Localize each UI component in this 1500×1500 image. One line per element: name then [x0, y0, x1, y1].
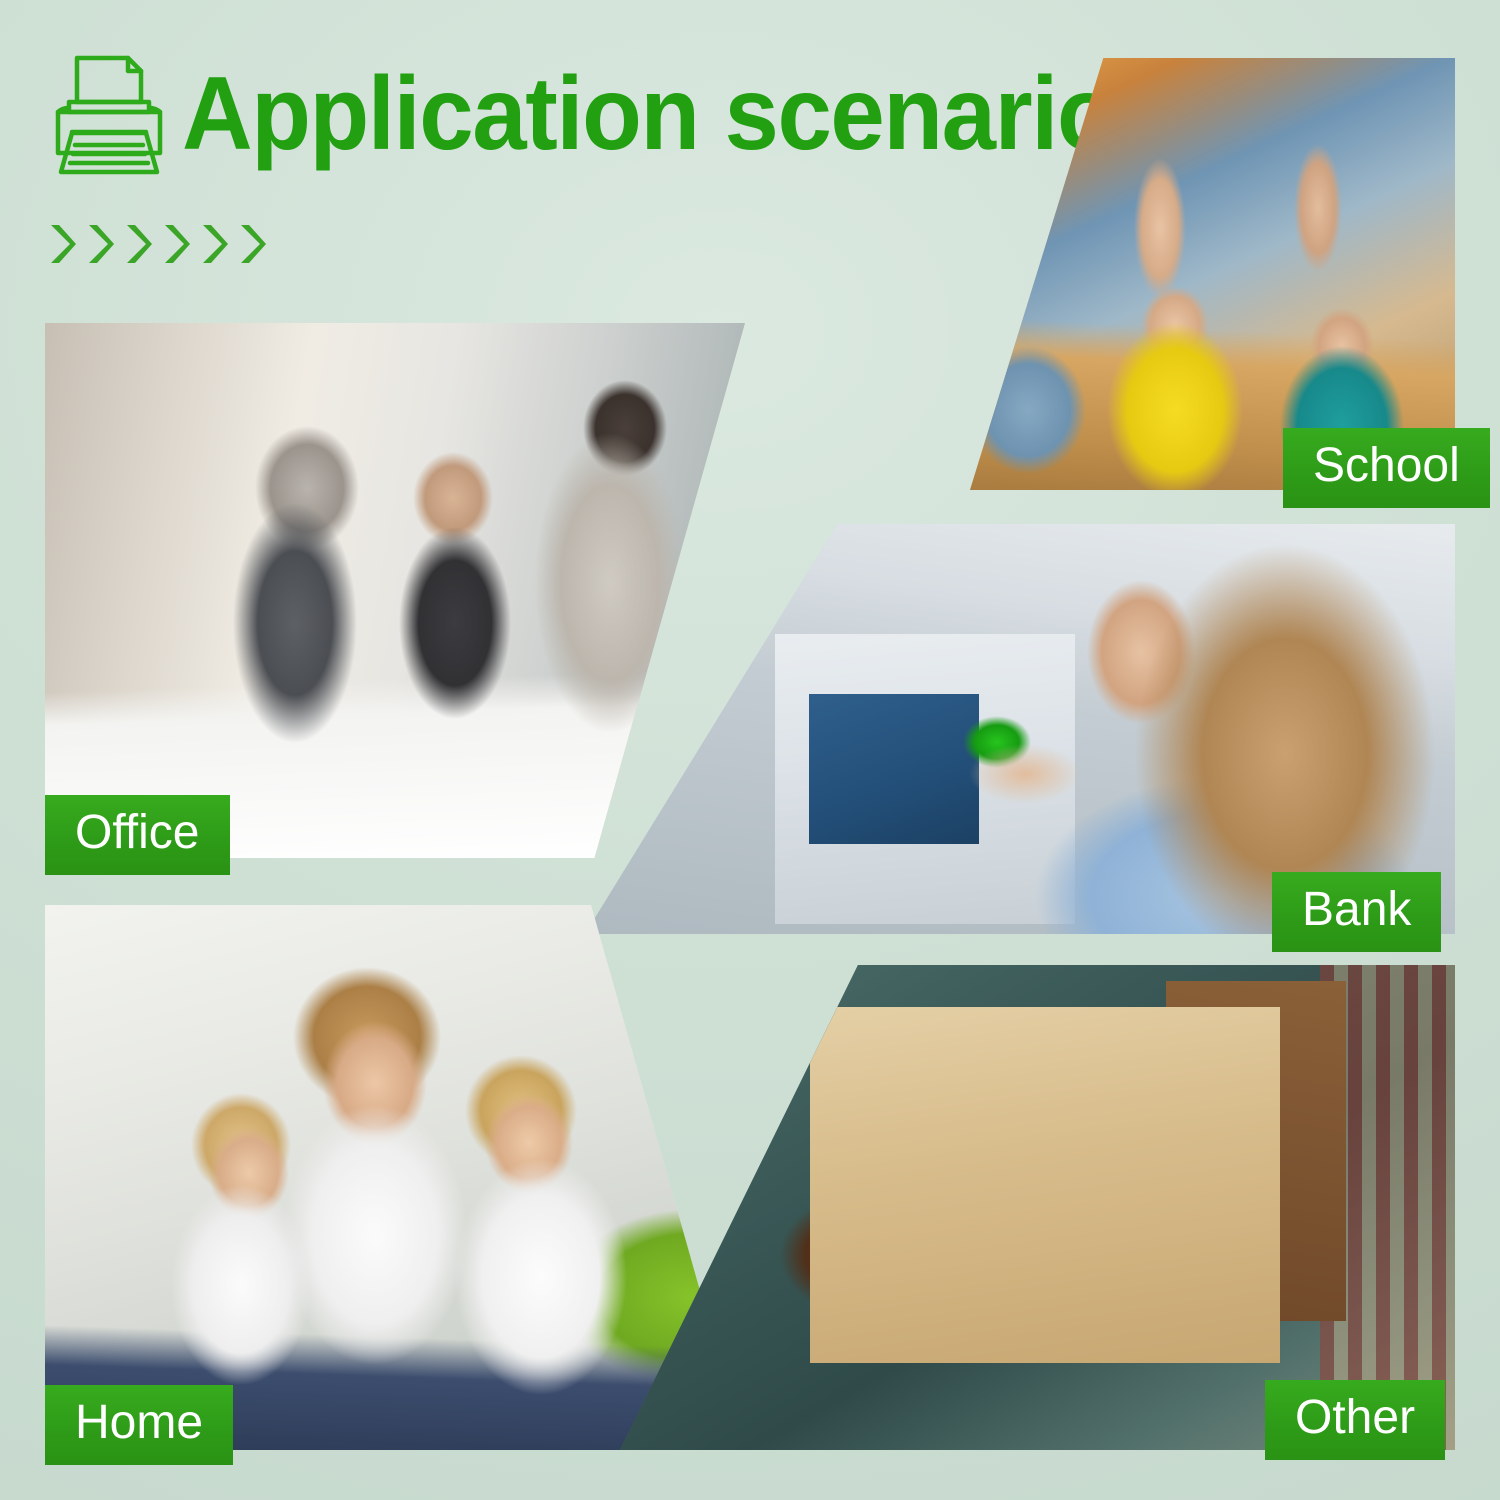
scenario-label-other: Other — [1265, 1380, 1445, 1460]
other-photo-image — [620, 965, 1455, 1450]
chevron-right-icon — [162, 222, 192, 266]
scenario-label-bank: Bank — [1272, 872, 1441, 952]
chevron-right-icon — [48, 222, 78, 266]
scenario-photo-office — [45, 323, 745, 858]
scenario-label-home: Home — [45, 1385, 233, 1465]
chevron-row — [48, 222, 268, 266]
scenario-label-school: School — [1283, 428, 1490, 508]
scenario-photo-home — [45, 905, 745, 1450]
office-photo-image — [45, 323, 745, 858]
chevron-right-icon — [124, 222, 154, 266]
chevron-right-icon — [200, 222, 230, 266]
scenario-photo-other — [620, 965, 1455, 1450]
infographic-page: Application scenarios — [0, 0, 1500, 1500]
chevron-right-icon — [86, 222, 116, 266]
scenario-label-office: Office — [45, 795, 230, 875]
printer-icon — [44, 50, 174, 180]
home-photo-image — [45, 905, 745, 1450]
page-title: Application scenarios — [182, 62, 1168, 166]
chevron-right-icon — [238, 222, 268, 266]
